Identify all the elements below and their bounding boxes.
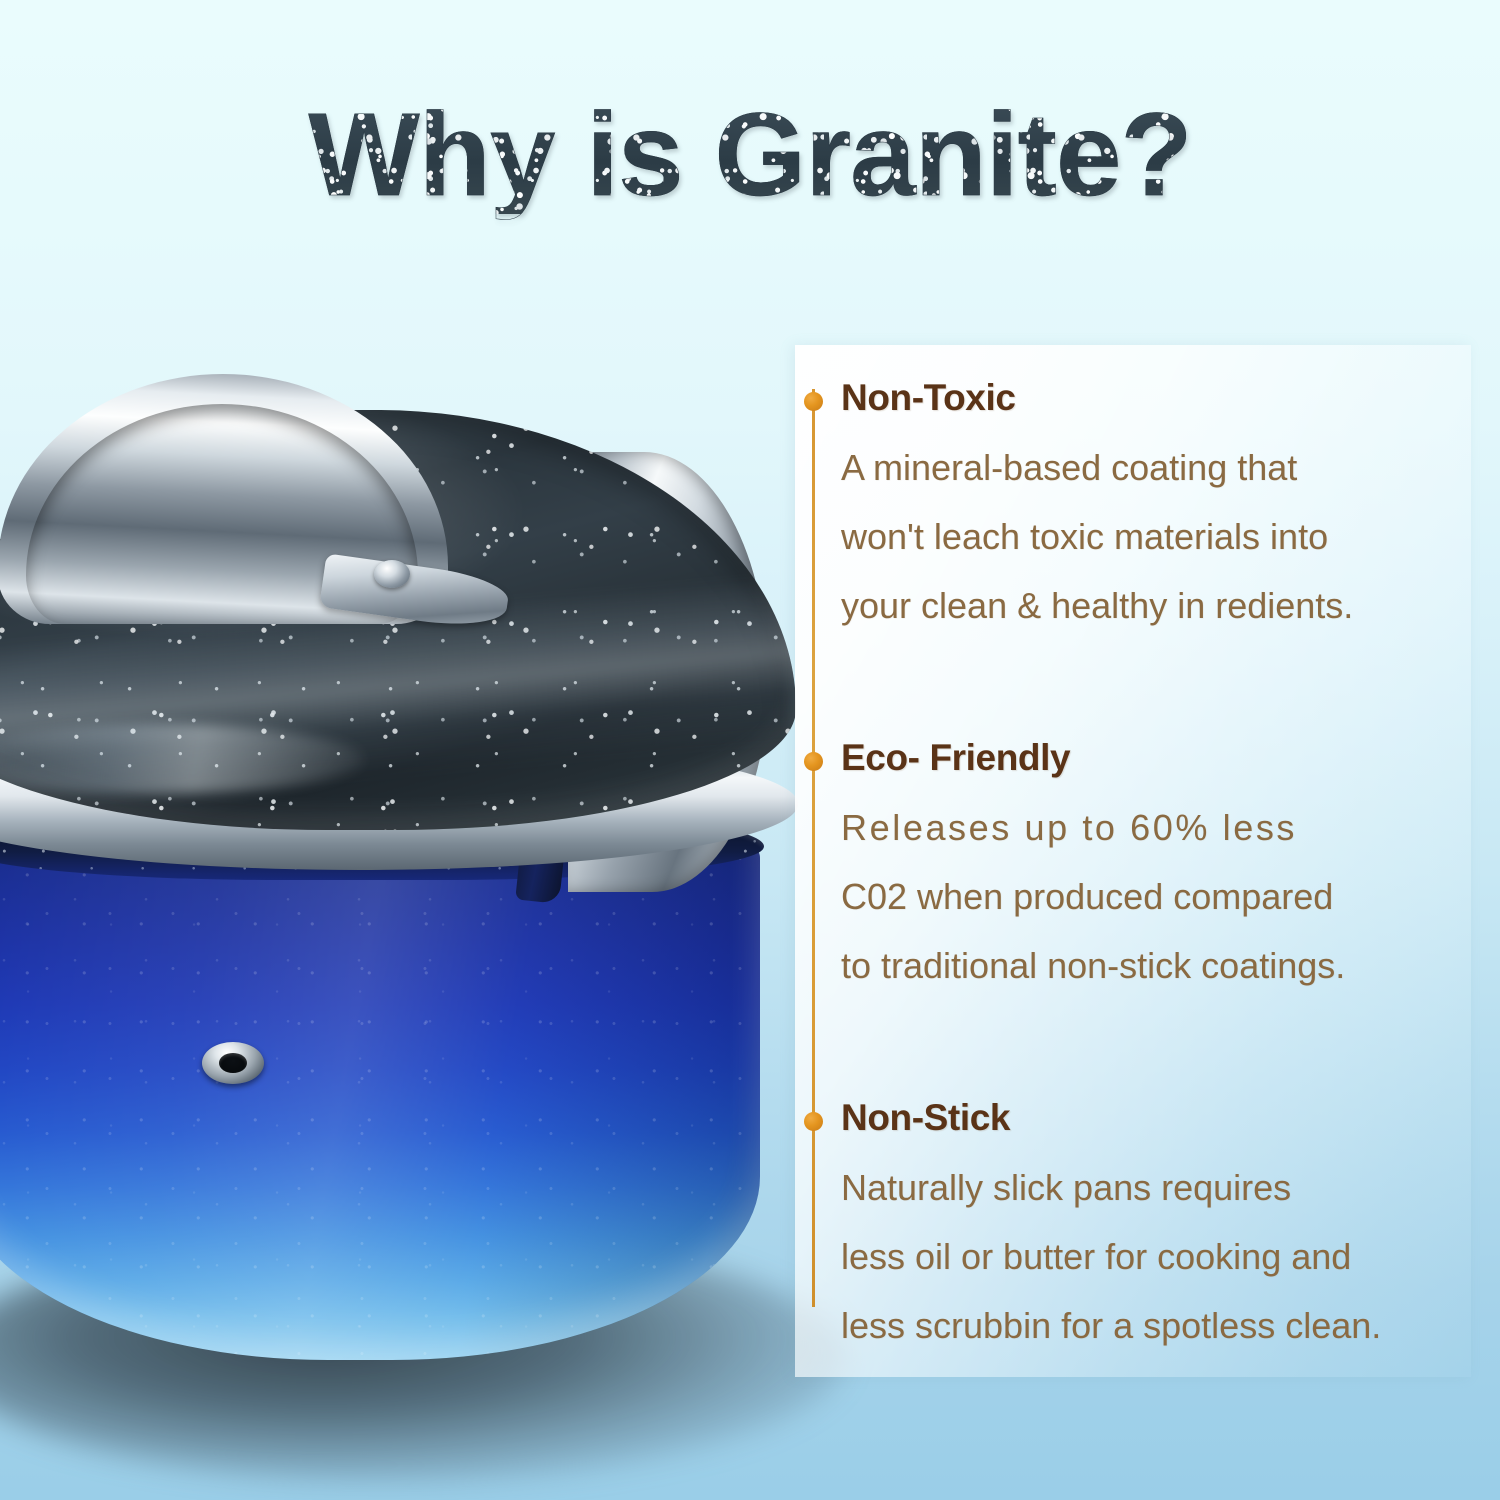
infographic-canvas: Why is Granite? Non-Toxic A miner [0,0,1500,1500]
lid-steam-vent-grommet [202,1042,264,1084]
bullet-dot-icon [804,1112,823,1131]
feature-description: A mineral-based coating that won't leach… [841,433,1453,640]
feature-line: less oil or butter for cooking and [841,1222,1453,1291]
feature-list-panel: Non-Toxic A mineral-based coating that w… [795,345,1471,1377]
feature-heading: Non-Toxic [841,377,1016,419]
feature-line: to traditional non-stick coatings. [841,931,1453,1000]
feature-line: your clean & healthy in redients. [841,571,1453,640]
feature-description: Naturally slick pans requires less oil o… [841,1153,1453,1360]
feature-line: Releases up to 60% less [841,793,1453,862]
feature-line: C02 when produced compared [841,862,1453,931]
feature-heading: Eco- Friendly [841,737,1070,779]
feature-line: less scrubbin for a spotless clean. [841,1291,1453,1360]
feature-description: Releases up to 60% less C02 when produce… [841,793,1453,1000]
lid-handle-rivet [374,560,410,588]
lid-arch-handle [0,374,448,624]
timeline-connector-line [812,389,815,1307]
bullet-dot-icon [804,392,823,411]
feature-line: won't leach toxic materials into [841,502,1453,571]
feature-line: A mineral-based coating that [841,433,1453,502]
pot-body [0,820,760,1360]
product-image-cookware-pot [0,352,868,1412]
feature-heading: Non-Stick [841,1097,1010,1139]
page-title: Why is Granite? [0,96,1500,214]
feature-line: Naturally slick pans requires [841,1153,1453,1222]
bullet-dot-icon [804,752,823,771]
